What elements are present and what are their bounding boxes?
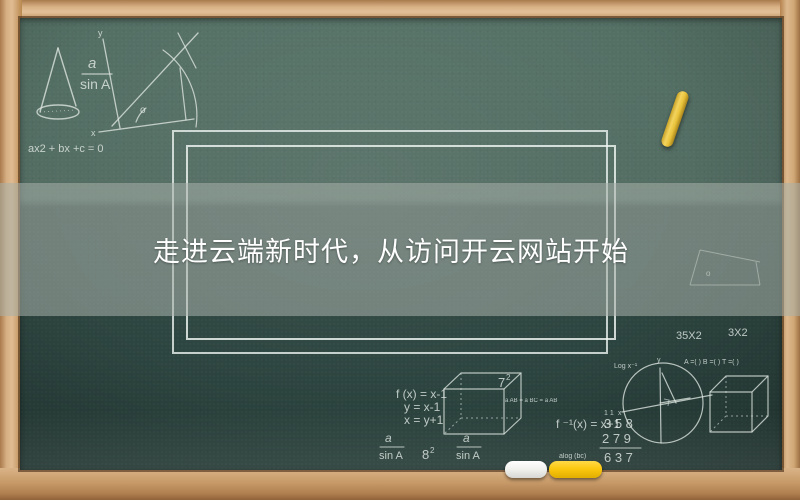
blackboard-banner: a sin A y x o ax2 + bx +c = 0 o — [0, 0, 800, 500]
white-chalk — [505, 461, 547, 478]
chalk-dust-haze — [20, 410, 782, 470]
frame-bottom-tray — [0, 468, 800, 500]
frame-top-rail — [0, 0, 800, 20]
yellow-chalk — [549, 461, 602, 478]
page-title: 走进云端新时代，从访问开云网站开始 — [0, 183, 800, 316]
